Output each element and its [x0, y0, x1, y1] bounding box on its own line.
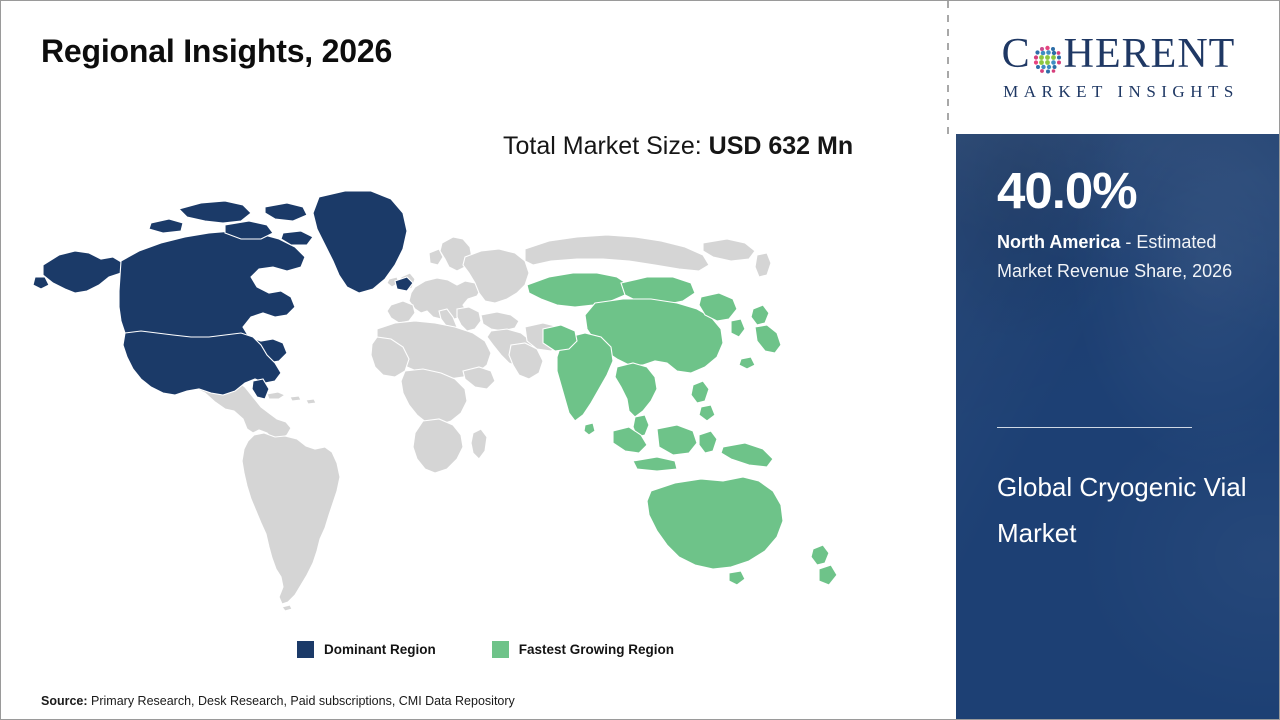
share-region: North America	[997, 232, 1120, 252]
map-legend: Dominant Region Fastest Growing Region	[297, 641, 674, 658]
legend-label-dominant: Dominant Region	[324, 642, 436, 657]
world-map	[29, 181, 839, 611]
map-region-dominant-north-america	[33, 191, 413, 399]
market-name: Global Cryogenic Vial Market	[997, 465, 1247, 556]
world-map-container	[29, 181, 839, 611]
side-panel: 40.0% North America - Estimated Market R…	[956, 134, 1280, 720]
legend-item-dominant: Dominant Region	[297, 641, 436, 658]
globe-dots-icon	[1032, 41, 1063, 72]
panel-rule	[997, 427, 1192, 428]
total-market-size-value: USD 632 Mn	[709, 132, 853, 160]
brand-logo: C	[956, 1, 1280, 134]
total-market-size-label: Total Market Size:	[503, 132, 702, 160]
share-value: 40.0%	[997, 165, 1137, 216]
legend-label-fastest-growing: Fastest Growing Region	[519, 642, 674, 657]
logo-letter-c: C	[1002, 33, 1031, 75]
logo-subtitle: MARKET INSIGHTS	[998, 82, 1239, 102]
legend-swatch-fastest-icon	[492, 641, 509, 658]
legend-swatch-dominant-icon	[297, 641, 314, 658]
legend-item-fastest-growing: Fastest Growing Region	[492, 641, 674, 658]
page-title: Regional Insights, 2026	[41, 34, 392, 69]
share-caption: North America - Estimated Market Revenue…	[997, 228, 1265, 286]
source-text: Primary Research, Desk Research, Paid su…	[88, 694, 515, 708]
logo-wordmark: C	[1002, 33, 1236, 75]
source-label: Source:	[41, 694, 88, 708]
map-region-fastest-asia-pacific	[527, 273, 837, 585]
infographic-canvas: Regional Insights, 2026 Total Market Siz…	[0, 0, 1280, 720]
logo-letters-herent: HERENT	[1064, 33, 1236, 75]
panel-divider	[947, 1, 949, 135]
source-line: Source: Primary Research, Desk Research,…	[41, 694, 515, 708]
total-market-size-callout: Total Market Size: USD 632 Mn	[503, 126, 895, 166]
